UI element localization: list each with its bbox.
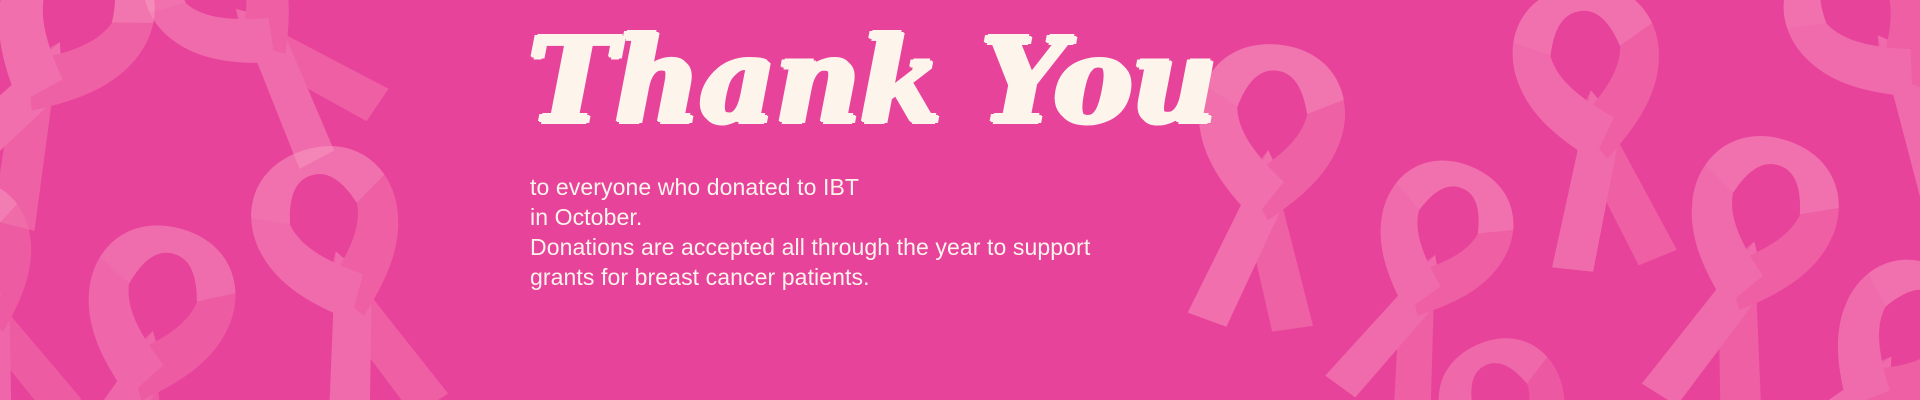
banner-content: Thank You to everyone who donated to IBT…: [530, 0, 1230, 400]
thank-you-banner: Thank You to everyone who donated to IBT…: [0, 0, 1920, 400]
awareness-ribbon-icon: [1712, 206, 1920, 400]
awareness-ribbon-icon: [5, 188, 285, 400]
awareness-ribbon-icon: [1723, 0, 1920, 243]
awareness-ribbon-icon: [1599, 95, 1891, 400]
awareness-ribbon-icon: [1390, 297, 1660, 400]
awareness-ribbon-icon: [1287, 119, 1563, 400]
awareness-ribbon-icon: [1470, 0, 1720, 283]
page-title: Thank You: [528, 18, 1216, 143]
awareness-ribbon-icon: [0, 141, 120, 400]
awareness-ribbon-icon: [0, 0, 216, 261]
awareness-ribbon-icon: [199, 105, 491, 400]
donation-message: Donations are accepted all through the y…: [530, 232, 1110, 292]
thank-you-message: to everyone who donated to IBT in Octobe…: [530, 172, 950, 232]
awareness-ribbon-icon: [86, 0, 425, 203]
